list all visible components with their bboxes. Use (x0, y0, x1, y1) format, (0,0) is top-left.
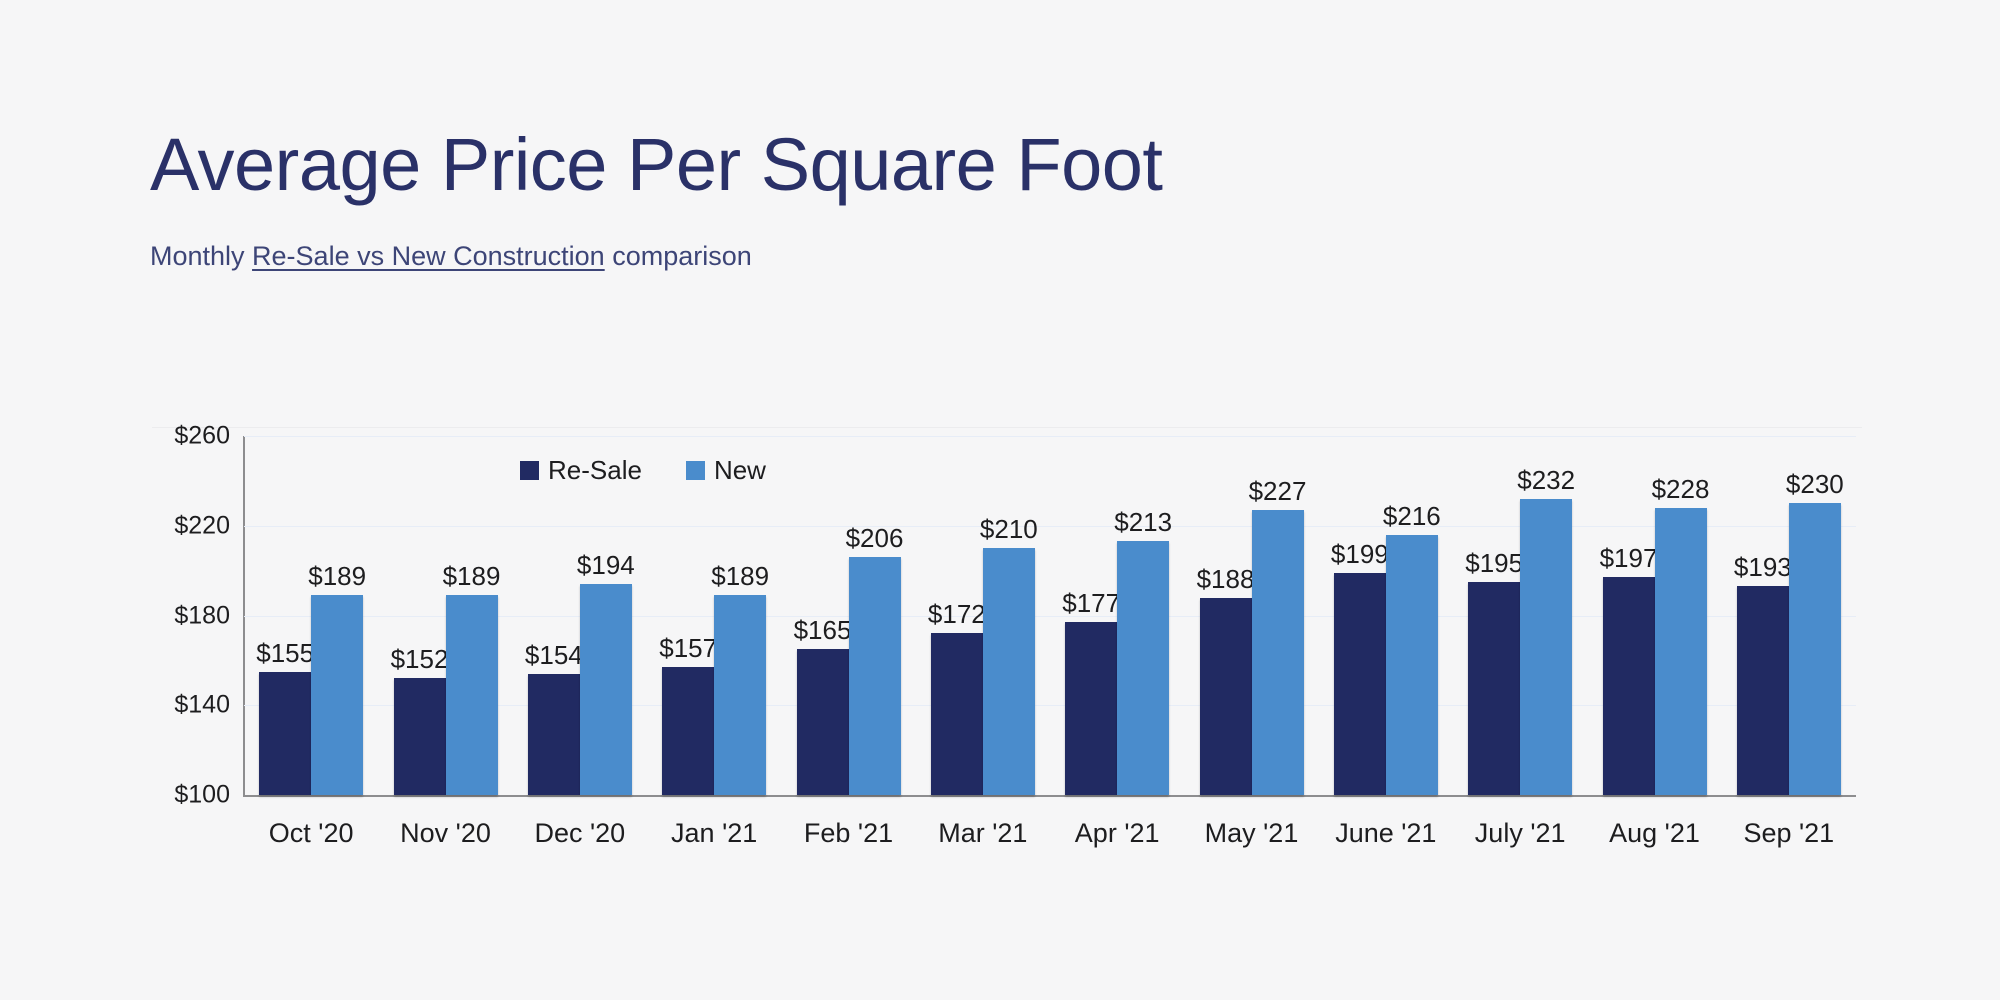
bar-group: $152$189 (394, 436, 498, 795)
legend-swatch-icon (686, 461, 705, 480)
bar-group: $157$189 (662, 436, 766, 795)
bar-group: $195$232 (1468, 436, 1572, 795)
bar-re-sale[interactable] (931, 633, 983, 795)
x-axis-tick-label: May '21 (1205, 820, 1299, 847)
bar-re-sale[interactable] (1737, 586, 1789, 795)
bar-re-sale[interactable] (1065, 622, 1117, 795)
bar-group: $154$194 (528, 436, 632, 795)
bar-new[interactable] (983, 548, 1035, 795)
x-axis-tick-label: Sep '21 (1743, 820, 1834, 847)
legend-label: New (714, 457, 766, 483)
bar-new[interactable] (580, 584, 632, 795)
bar-value-label: $189 (443, 563, 501, 589)
bar-new[interactable] (1386, 535, 1438, 795)
x-axis-tick-label: Dec '20 (534, 820, 625, 847)
legend-item-new[interactable]: New (686, 457, 766, 483)
page-title: Average Price Per Square Foot (150, 128, 1162, 202)
x-axis-tick-label: Jan '21 (671, 820, 757, 847)
bar-value-label: $210 (980, 516, 1038, 542)
bar-new[interactable] (1252, 510, 1304, 795)
bar-re-sale[interactable] (1468, 582, 1520, 795)
bar-value-label: $228 (1652, 476, 1710, 502)
bar-value-label: $206 (846, 525, 904, 551)
bar-value-label: $188 (1197, 566, 1255, 592)
x-axis-tick-label: Mar '21 (938, 820, 1027, 847)
bar-new[interactable] (446, 595, 498, 795)
bar-group: $165$206 (797, 436, 901, 795)
bar-value-label: $232 (1517, 467, 1575, 493)
bar-re-sale[interactable] (259, 672, 311, 795)
bar-value-label: $216 (1383, 503, 1441, 529)
bar-value-label: $172 (928, 601, 986, 627)
y-axis-tick-labels: $260$220$180$140$100 (118, 0, 230, 1000)
bar-value-label: $154 (525, 642, 583, 668)
bar-new[interactable] (849, 557, 901, 795)
bar-re-sale[interactable] (528, 674, 580, 795)
plot-area: $155$189$152$189$154$194$157$189$165$206… (244, 436, 1856, 795)
bar-new[interactable] (714, 595, 766, 795)
bar-value-label: $189 (711, 563, 769, 589)
subtitle-underlined: Re-Sale vs New Construction (252, 241, 605, 271)
legend-swatch-icon (520, 461, 539, 480)
bar-new[interactable] (1655, 508, 1707, 795)
bar-value-label: $194 (577, 552, 635, 578)
chart-page: Average Price Per Square Foot Monthly Re… (0, 0, 2000, 1000)
x-axis-tick-label: Nov '20 (400, 820, 491, 847)
subtitle-suffix: comparison (605, 241, 752, 271)
bar-re-sale[interactable] (1200, 598, 1252, 795)
bar-group: $193$230 (1737, 436, 1841, 795)
bar-value-label: $230 (1786, 471, 1844, 497)
bar-re-sale[interactable] (394, 678, 446, 795)
bar-value-label: $227 (1249, 478, 1307, 504)
x-axis-tick-label: Aug '21 (1609, 820, 1700, 847)
page-subtitle: Monthly Re-Sale vs New Construction comp… (150, 243, 752, 270)
y-axis-tick-label: $260 (120, 422, 230, 451)
bar-re-sale[interactable] (1334, 573, 1386, 795)
bar-value-label: $195 (1465, 550, 1523, 576)
y-axis-tick-label: $180 (120, 601, 230, 630)
bar-re-sale[interactable] (1603, 577, 1655, 795)
legend-label: Re-Sale (548, 457, 642, 483)
bar-re-sale[interactable] (797, 649, 849, 795)
bar-value-label: $197 (1600, 545, 1658, 571)
x-axis-tick-label: Feb '21 (804, 820, 893, 847)
bar-re-sale[interactable] (662, 667, 714, 795)
x-axis-tick-label: Apr '21 (1075, 820, 1160, 847)
x-axis-tick-label: Oct '20 (269, 820, 354, 847)
x-axis-tick-label: June '21 (1335, 820, 1436, 847)
bar-value-label: $199 (1331, 541, 1389, 567)
y-axis-tick-label: $220 (120, 511, 230, 540)
bar-new[interactable] (1117, 541, 1169, 795)
legend-item-re-sale[interactable]: Re-Sale (520, 457, 642, 483)
bar-value-label: $213 (1114, 509, 1172, 535)
chart-legend: Re-SaleNew (520, 457, 766, 483)
y-axis-tick-label: $140 (120, 691, 230, 720)
bar-value-label: $193 (1734, 554, 1792, 580)
bar-group: $197$228 (1603, 436, 1707, 795)
bar-value-label: $189 (308, 563, 366, 589)
bar-value-label: $165 (794, 617, 852, 643)
bar-new[interactable] (311, 595, 363, 795)
x-axis-tick-label: July '21 (1475, 820, 1566, 847)
bar-group: $199$216 (1334, 436, 1438, 795)
bar-new[interactable] (1789, 503, 1841, 795)
bar-value-label: $155 (256, 640, 314, 666)
bar-group: $177$213 (1065, 436, 1169, 795)
bar-group: $172$210 (931, 436, 1035, 795)
bar-value-label: $152 (391, 646, 449, 672)
bar-new[interactable] (1520, 499, 1572, 795)
bar-value-label: $177 (1062, 590, 1120, 616)
x-axis-line (243, 795, 1856, 797)
bar-value-label: $157 (659, 635, 717, 661)
bar-group: $155$189 (259, 436, 363, 795)
bar-group: $188$227 (1200, 436, 1304, 795)
y-axis-tick-label: $100 (120, 781, 230, 810)
